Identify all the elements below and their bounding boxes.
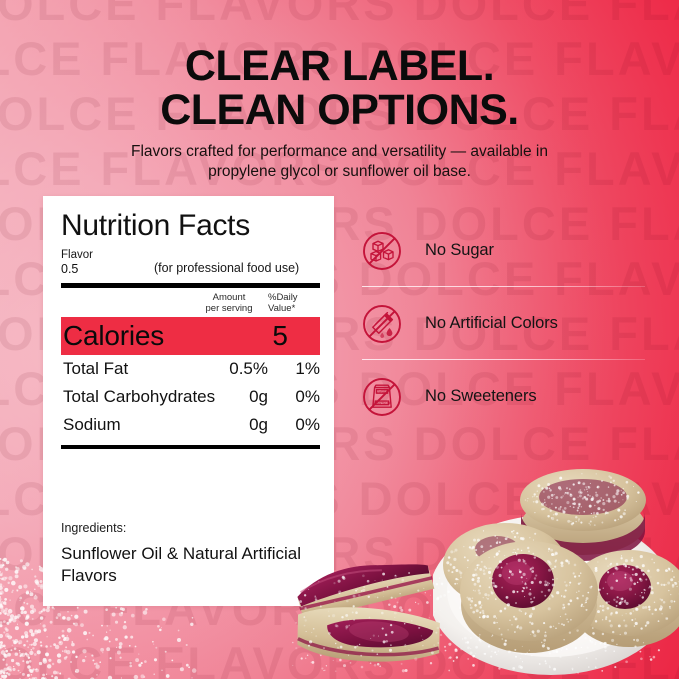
no-artificial-colors-icon bbox=[362, 304, 402, 344]
nutrient-daily-value: 1% bbox=[276, 355, 320, 383]
nutrient-amount: 0g bbox=[249, 411, 268, 439]
rule-thick-bottom bbox=[61, 445, 320, 449]
flavor-label: Flavor bbox=[61, 249, 93, 262]
feature-row-no-artificial-colors: No Artificial Colors bbox=[362, 287, 652, 360]
feature-label: No Sugar bbox=[425, 241, 494, 260]
nutrient-row: Sodium0g0% bbox=[61, 411, 320, 439]
nutrition-facts-title: Nutrition Facts bbox=[61, 208, 320, 244]
headline-block: CLEAR LABEL. CLEAN OPTIONS. bbox=[0, 44, 679, 132]
headline-line-2: CLEAN OPTIONS. bbox=[0, 88, 679, 132]
calories-value: 5 bbox=[272, 321, 288, 351]
daily-value-header: %Daily Value* bbox=[268, 293, 320, 314]
nutrition-facts-card: Nutrition Facts Flavor 0.5 (for professi… bbox=[43, 196, 334, 606]
feature-list: No SugarNo Artificial ColorsSWEETSWEETEN… bbox=[362, 214, 652, 433]
dv-header-line-2: Value* bbox=[268, 303, 295, 314]
calories-bar: Calories 5 bbox=[61, 317, 320, 355]
nutrient-daily-value: 0% bbox=[276, 411, 320, 439]
promo-graphic: DOLCE FLAVORS DOLCE FLAVORS DOLCE FLAVOR… bbox=[0, 0, 679, 679]
nutrient-amount: 0g bbox=[249, 383, 268, 411]
feature-row-no-sweeteners: SWEETSWEETENERNo Sweeteners bbox=[362, 360, 652, 433]
amount-per-serving-header: Amount per serving bbox=[194, 293, 264, 314]
ingredients-block: Ingredients: Sunflower Oil & Natural Art… bbox=[61, 521, 320, 587]
nutrient-row: Total Fat0.5%1% bbox=[61, 355, 320, 383]
amount-header-line-2: per serving bbox=[206, 303, 253, 314]
subheadline-line-2: propylene glycol or sunflower oil base. bbox=[80, 162, 599, 182]
headline-line-1: CLEAR LABEL. bbox=[0, 44, 679, 88]
column-headers: Amount per serving %Daily Value* bbox=[61, 292, 320, 316]
nutrient-name: Total Carbohydrates bbox=[63, 383, 215, 411]
calories-label: Calories bbox=[63, 321, 164, 351]
feature-label: No Artificial Colors bbox=[425, 314, 558, 333]
feature-row-no-sugar: No Sugar bbox=[362, 214, 652, 287]
subheadline-line-1: Flavors crafted for performance and vers… bbox=[80, 142, 599, 162]
nutrient-name: Sodium bbox=[63, 411, 121, 439]
no-artificial-colors-icon bbox=[362, 304, 402, 344]
nutrient-rows: Total Fat0.5%1%Total Carbohydrates0g0%So… bbox=[61, 355, 320, 439]
nutrient-name: Total Fat bbox=[63, 355, 128, 383]
dv-header-line-1: %Daily bbox=[268, 292, 298, 303]
ingredients-value: Sunflower Oil & Natural Artificial Flavo… bbox=[61, 543, 320, 587]
ingredients-label: Ingredients: bbox=[61, 521, 320, 535]
flavor-value: 0.5 bbox=[61, 262, 78, 276]
nutrient-amount: 0.5% bbox=[229, 355, 268, 383]
no-sugar-icon bbox=[362, 231, 402, 271]
feature-label: No Sweeteners bbox=[425, 387, 537, 406]
amount-header-line-1: Amount bbox=[213, 292, 246, 303]
rule-thick-top bbox=[61, 283, 320, 288]
serving-info-row: Flavor 0.5 (for professional food use) bbox=[61, 249, 320, 279]
nutrient-daily-value: 0% bbox=[276, 383, 320, 411]
nutrient-row: Total Carbohydrates0g0% bbox=[61, 383, 320, 411]
no-sweeteners-icon: SWEETSWEETENER bbox=[362, 377, 402, 417]
professional-use-note: (for professional food use) bbox=[154, 261, 299, 276]
subheadline-block: Flavors crafted for performance and vers… bbox=[0, 142, 679, 182]
nutrition-facts-body: Nutrition Facts Flavor 0.5 (for professi… bbox=[61, 208, 320, 449]
no-sugar-icon bbox=[362, 231, 402, 271]
no-sweeteners-icon: SWEETSWEETENER bbox=[362, 377, 402, 417]
